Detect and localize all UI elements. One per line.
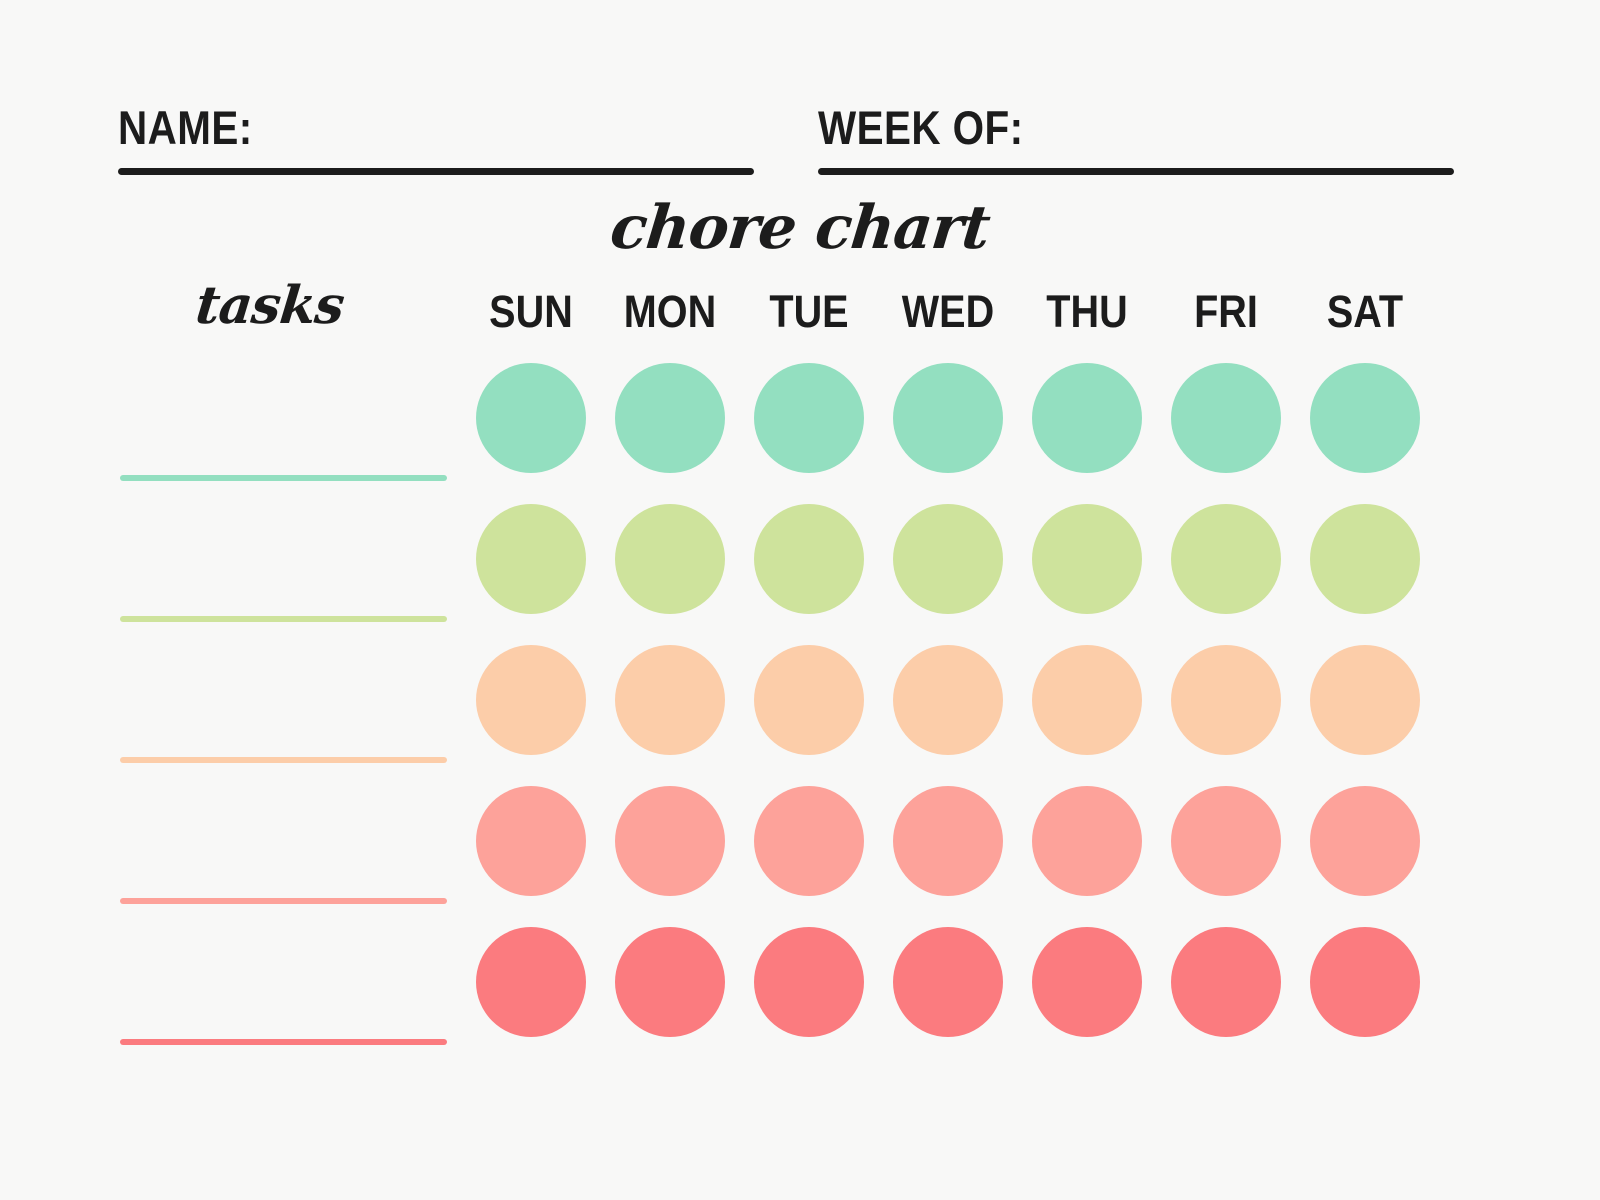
week-of-field-label: WEEK OF:: [818, 104, 1024, 151]
checkbox-dot-thu-row5[interactable]: [1032, 927, 1142, 1037]
task-write-in-line-1[interactable]: [120, 475, 447, 481]
checkbox-dot-thu-row3[interactable]: [1032, 645, 1142, 755]
checkbox-dot-group: [476, 645, 1420, 755]
chore-row: [0, 363, 1600, 504]
checkbox-dot-sat-row1[interactable]: [1310, 363, 1420, 473]
checkbox-dot-sat-row3[interactable]: [1310, 645, 1420, 755]
chore-row: [0, 645, 1600, 786]
name-field-label: NAME:: [118, 104, 253, 151]
day-header-mon: MON: [622, 289, 719, 334]
day-header-row: SUNMONTUEWEDTHUFRISAT: [476, 289, 1420, 334]
chore-chart-sheet: NAME: WEEK OF: chore chart tasks SUNMONT…: [0, 0, 1600, 1200]
page-title: chore chart: [0, 198, 1600, 258]
chore-row: [0, 786, 1600, 927]
week-of-write-in-line[interactable]: [818, 168, 1454, 175]
checkbox-dot-group: [476, 927, 1420, 1037]
checkbox-dot-tue-row5[interactable]: [754, 927, 864, 1037]
checkbox-dot-tue-row2[interactable]: [754, 504, 864, 614]
checkbox-dot-wed-row3[interactable]: [893, 645, 1003, 755]
task-write-in-line-2[interactable]: [120, 616, 447, 622]
day-header-sat: SAT: [1317, 289, 1414, 334]
checkbox-dot-thu-row1[interactable]: [1032, 363, 1142, 473]
chore-rows: [0, 363, 1600, 1068]
checkbox-dot-fri-row3[interactable]: [1171, 645, 1281, 755]
checkbox-dot-fri-row2[interactable]: [1171, 504, 1281, 614]
checkbox-dot-fri-row5[interactable]: [1171, 927, 1281, 1037]
checkbox-dot-wed-row2[interactable]: [893, 504, 1003, 614]
day-header-fri: FRI: [1178, 289, 1275, 334]
checkbox-dot-group: [476, 363, 1420, 473]
checkbox-dot-wed-row5[interactable]: [893, 927, 1003, 1037]
day-header-sun: SUN: [483, 289, 580, 334]
chore-row: [0, 927, 1600, 1068]
tasks-column-heading: tasks: [193, 280, 346, 332]
chore-row: [0, 504, 1600, 645]
checkbox-dot-sun-row4[interactable]: [476, 786, 586, 896]
checkbox-dot-tue-row1[interactable]: [754, 363, 864, 473]
checkbox-dot-sun-row3[interactable]: [476, 645, 586, 755]
task-write-in-line-3[interactable]: [120, 757, 447, 763]
checkbox-dot-sun-row5[interactable]: [476, 927, 586, 1037]
checkbox-dot-sat-row4[interactable]: [1310, 786, 1420, 896]
checkbox-dot-sun-row2[interactable]: [476, 504, 586, 614]
day-header-thu: THU: [1039, 289, 1136, 334]
checkbox-dot-sun-row1[interactable]: [476, 363, 586, 473]
checkbox-dot-group: [476, 504, 1420, 614]
week-of-field-group: WEEK OF:: [818, 104, 1057, 151]
checkbox-dot-mon-row5[interactable]: [615, 927, 725, 1037]
checkbox-dot-mon-row1[interactable]: [615, 363, 725, 473]
checkbox-dot-thu-row2[interactable]: [1032, 504, 1142, 614]
day-header-wed: WED: [900, 289, 997, 334]
checkbox-dot-sat-row5[interactable]: [1310, 927, 1420, 1037]
task-write-in-line-5[interactable]: [120, 1039, 447, 1045]
checkbox-dot-fri-row1[interactable]: [1171, 363, 1281, 473]
day-header-tue: TUE: [761, 289, 858, 334]
name-write-in-line[interactable]: [118, 168, 754, 175]
checkbox-dot-group: [476, 786, 1420, 896]
checkbox-dot-fri-row4[interactable]: [1171, 786, 1281, 896]
checkbox-dot-mon-row3[interactable]: [615, 645, 725, 755]
checkbox-dot-wed-row4[interactable]: [893, 786, 1003, 896]
checkbox-dot-mon-row2[interactable]: [615, 504, 725, 614]
name-field-group: NAME:: [118, 104, 275, 151]
checkbox-dot-tue-row3[interactable]: [754, 645, 864, 755]
checkbox-dot-wed-row1[interactable]: [893, 363, 1003, 473]
task-write-in-line-4[interactable]: [120, 898, 447, 904]
checkbox-dot-thu-row4[interactable]: [1032, 786, 1142, 896]
checkbox-dot-tue-row4[interactable]: [754, 786, 864, 896]
checkbox-dot-mon-row4[interactable]: [615, 786, 725, 896]
checkbox-dot-sat-row2[interactable]: [1310, 504, 1420, 614]
